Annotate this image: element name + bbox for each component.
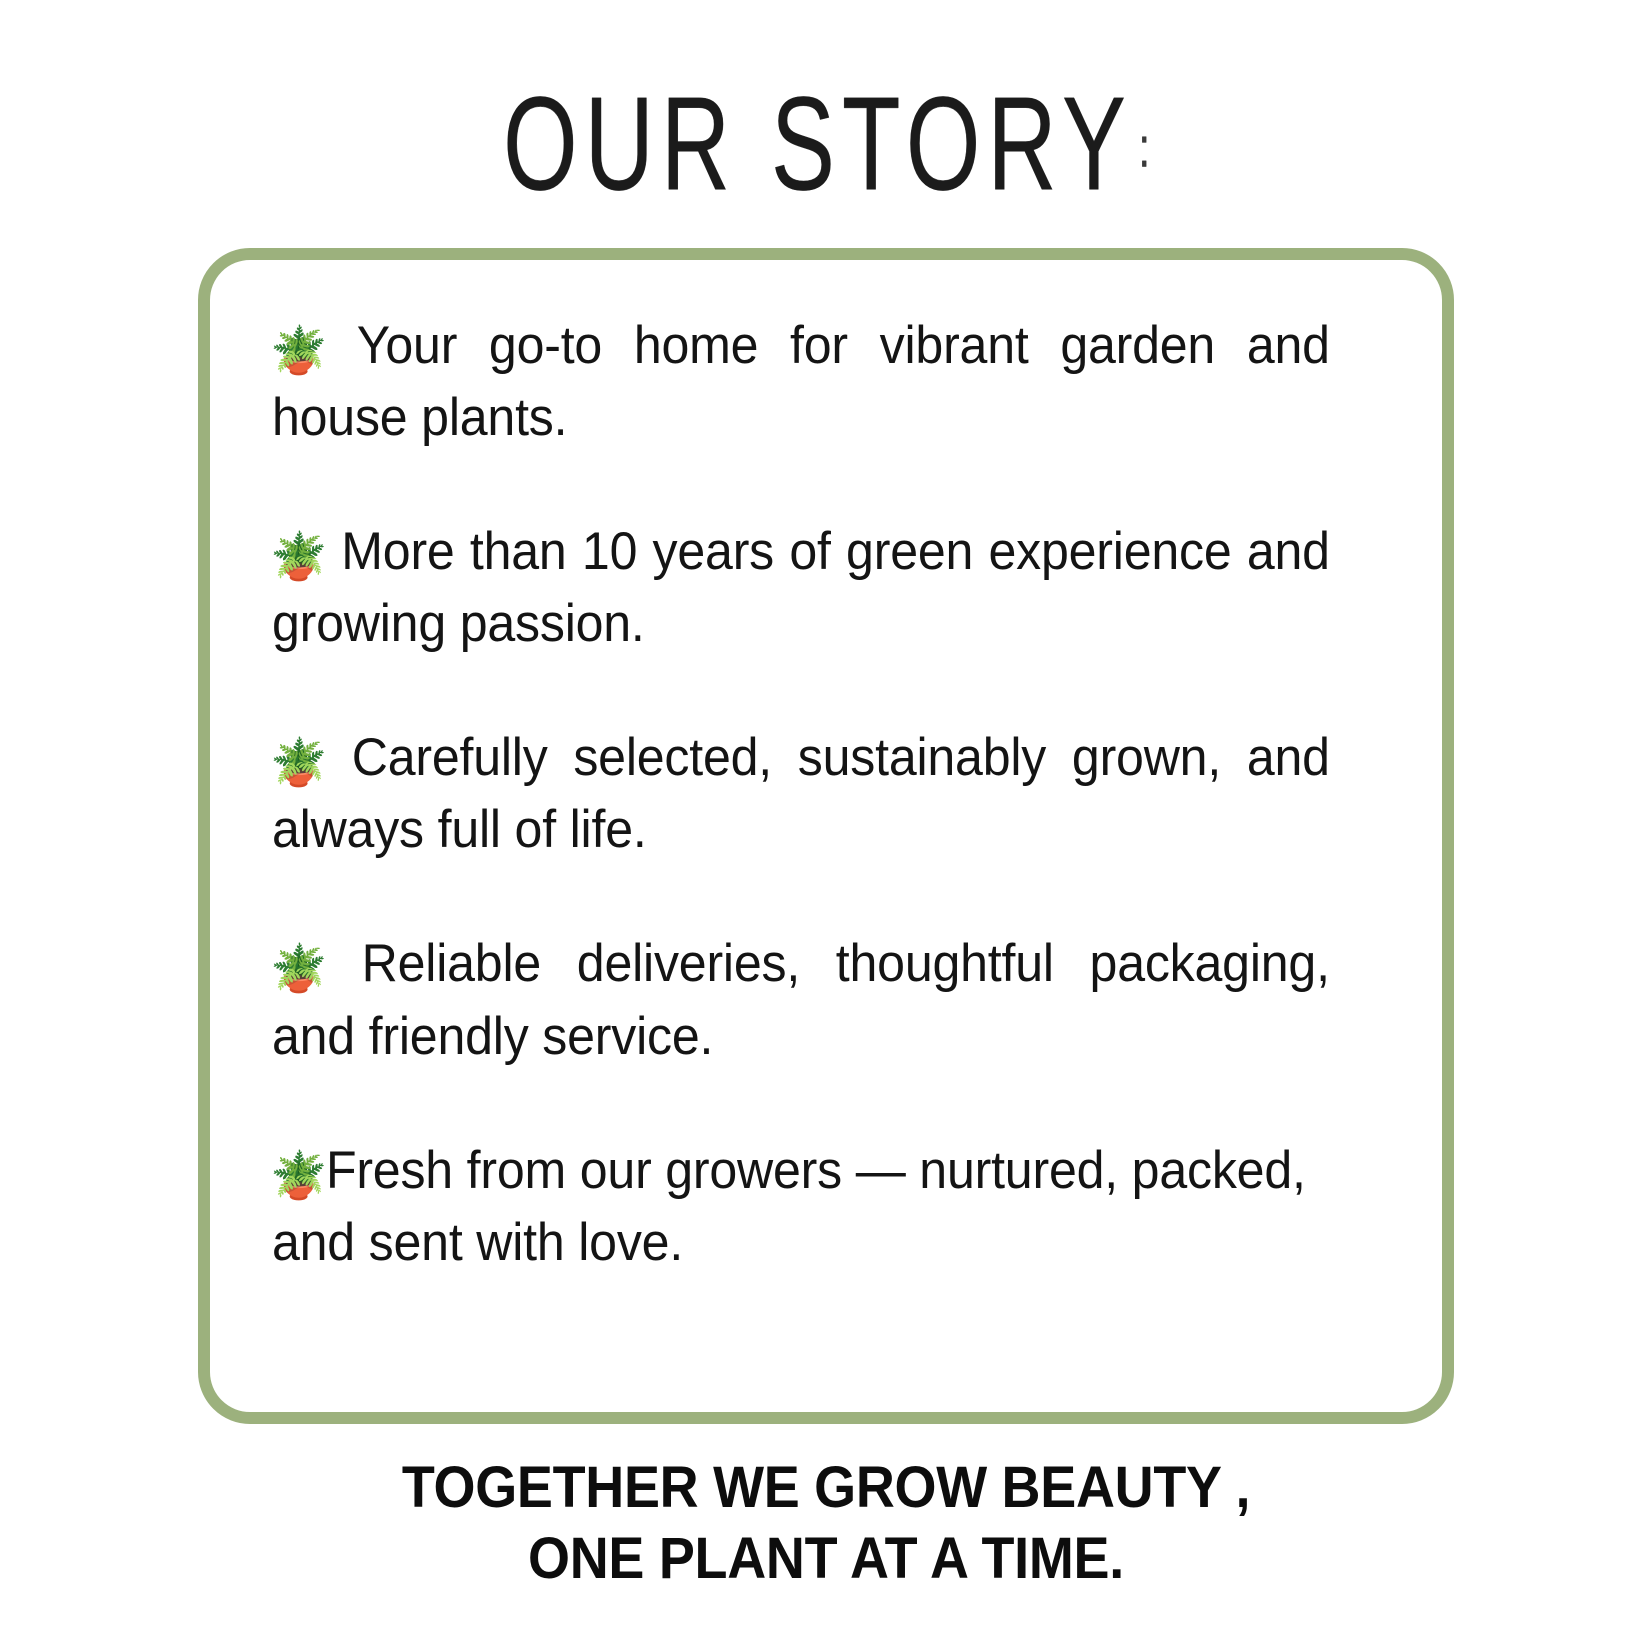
list-item: 🪴Fresh from our growers — nurtured, pack…	[272, 1135, 1330, 1279]
story-card-content: 🪴 Your go-to home for vibrant garden and…	[272, 310, 1330, 1279]
list-item-text: Your go-to home for vibrant garden and h…	[272, 316, 1330, 447]
list-item-text: Fresh from our growers — nurtured, packe…	[272, 1141, 1306, 1272]
footer-tagline: TOGETHER WE GROW BEAUTY , ONE PLANT AT A…	[0, 1452, 1652, 1595]
list-item-text: More than 10 years of green experience a…	[272, 522, 1330, 653]
list-item: 🪴 Carefully selected, sustainably grown,…	[272, 722, 1330, 866]
list-item-text: Carefully selected, sustainably grown, a…	[272, 728, 1330, 859]
potted-plant-icon: 🪴	[270, 533, 327, 579]
list-item: 🪴 More than 10 years of green experience…	[272, 516, 1330, 660]
footer-tagline-line-2: ONE PLANT AT A TIME.	[58, 1523, 1594, 1594]
list-item-text: Reliable deliveries, thoughtful packagin…	[272, 934, 1330, 1065]
page-title-colon: :	[1138, 116, 1149, 179]
story-card: 🪴 Your go-to home for vibrant garden and…	[198, 248, 1454, 1424]
page-title: OUR STORY:	[503, 78, 1150, 211]
potted-plant-icon: 🪴	[270, 327, 327, 373]
list-item: 🪴 Your go-to home for vibrant garden and…	[272, 310, 1330, 454]
our-story-card-page: OUR STORY: 🪴 Your go-to home for vibrant…	[0, 0, 1652, 1652]
potted-plant-icon: 🪴	[270, 945, 327, 991]
page-title-wrapper: OUR STORY:	[0, 78, 1652, 182]
potted-plant-icon: 🪴	[270, 739, 327, 785]
footer-tagline-line-1: TOGETHER WE GROW BEAUTY ,	[58, 1452, 1594, 1523]
list-item: 🪴 Reliable deliveries, thoughtful packag…	[272, 928, 1330, 1072]
potted-plant-icon: 🪴	[270, 1152, 327, 1198]
page-title-text: OUR STORY	[503, 70, 1133, 218]
